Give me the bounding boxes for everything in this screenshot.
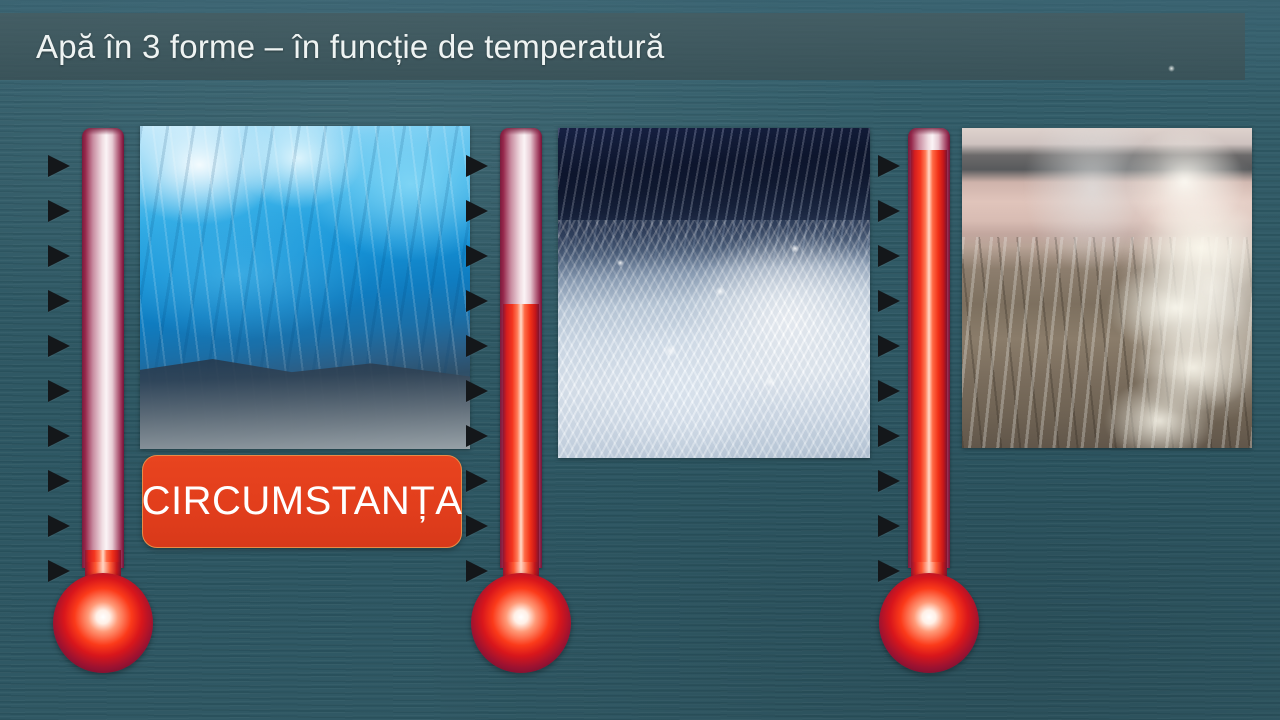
- page-title: Apă în 3 forme – în funcție de temperatu…: [0, 28, 664, 66]
- tick-mark: [878, 425, 900, 447]
- tick-mark: [878, 470, 900, 492]
- tick-mark: [48, 515, 70, 537]
- thermometer-bulb: [879, 573, 979, 673]
- tick-mark: [466, 425, 488, 447]
- tick-mark: [48, 380, 70, 402]
- thermometer-tube: [500, 128, 542, 568]
- water-foam-texture: [558, 220, 870, 458]
- tick-mark: [878, 200, 900, 222]
- tick-mark: [466, 515, 488, 537]
- tick-mark: [878, 515, 900, 537]
- tick-mark: [466, 560, 488, 582]
- thermometer-cap: [500, 128, 542, 135]
- tick-mark: [878, 560, 900, 582]
- thermometer-cap: [82, 128, 124, 135]
- thermometer-mercury: [911, 150, 947, 568]
- circumstance-label: CIRCUMSTANȚA: [142, 479, 463, 524]
- thermometer-bulb: [53, 573, 153, 673]
- tick-mark: [878, 335, 900, 357]
- photo-waterfall: [558, 128, 870, 458]
- tick-mark: [466, 245, 488, 267]
- steam-plume: [1055, 128, 1252, 448]
- tick-mark: [48, 425, 70, 447]
- tick-mark: [466, 335, 488, 357]
- tick-mark: [48, 290, 70, 312]
- tick-mark: [48, 335, 70, 357]
- tick-mark: [48, 200, 70, 222]
- title-band: Apă în 3 forme – în funcție de temperatu…: [0, 13, 1245, 80]
- tick-mark: [48, 245, 70, 267]
- tick-mark: [48, 470, 70, 492]
- tick-mark: [466, 380, 488, 402]
- thermometer-tube: [82, 128, 124, 568]
- circumstance-callout[interactable]: CIRCUMSTANȚA: [142, 455, 462, 548]
- tick-mark: [48, 560, 70, 582]
- background-speck: [1168, 65, 1175, 72]
- tick-mark: [48, 155, 70, 177]
- thermometer-cap: [908, 128, 950, 135]
- tick-mark: [466, 470, 488, 492]
- tick-mark: [878, 155, 900, 177]
- thermometer-mercury: [503, 304, 539, 568]
- tick-mark: [466, 155, 488, 177]
- tick-mark: [878, 290, 900, 312]
- tick-mark: [466, 290, 488, 312]
- tick-mark: [878, 380, 900, 402]
- photo-steam-vent: [962, 128, 1252, 448]
- tick-mark: [466, 200, 488, 222]
- tick-mark: [878, 245, 900, 267]
- photo-ice-cave: [140, 126, 470, 449]
- thermometer-bulb: [471, 573, 571, 673]
- thermometer-tube: [908, 128, 950, 568]
